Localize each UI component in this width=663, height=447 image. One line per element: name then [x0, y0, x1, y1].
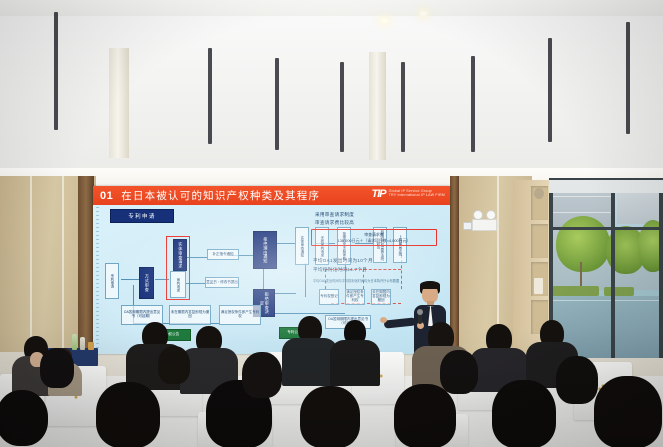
emergency-lamp-left-icon [473, 210, 483, 220]
emergency-lamp-right-icon [486, 210, 496, 220]
wood-seam-left-1 [30, 176, 32, 352]
flow-node-n7-label: 专利权登记 [320, 295, 338, 299]
flow-node-n2: 方式审查 [139, 267, 154, 299]
water-reflection-line [549, 300, 663, 301]
audience-head-18 [40, 348, 74, 388]
microphone-head-icon [417, 309, 423, 315]
logo-mark: TIP [371, 188, 385, 200]
audience-head-15 [394, 384, 456, 447]
audience-head-16 [492, 380, 556, 447]
connector-11 [305, 263, 306, 297]
connector-13 [263, 313, 345, 314]
flow-node-n4-label: 实体审查通知 [300, 236, 304, 257]
firm-logo: TIP Global IP Service Group TRY Internat… [371, 188, 445, 200]
logo-line-2: TRY International IP LAW FIRM [389, 194, 445, 198]
exterior-hedge-1 [551, 286, 599, 296]
flow-note-2: 未在期限内答复即视为撤回 [169, 305, 211, 325]
exterior-building-line-2 [551, 212, 611, 213]
audience-head-12 [96, 382, 160, 447]
flow-node-n13-label: 审判请求 [176, 278, 180, 292]
audience-head-14 [300, 386, 360, 447]
flow-note-3-label: 满足授权条件即产生专利权 [220, 311, 260, 319]
window-blind [549, 180, 663, 193]
audience-head-19 [242, 352, 282, 398]
flow-node-n5-label: 拒绝理由通知 [263, 237, 268, 263]
wall-pillar-dark-left [78, 176, 94, 356]
connector-1 [121, 279, 139, 280]
panel-heading-2: 审查请求费比较高 [315, 219, 354, 227]
window-mullion-right [659, 178, 663, 358]
water-bottle-1 [72, 334, 77, 350]
slide-banner: 01 在日本被认可的知识产权种类及其程序 TIP Global IP Servi… [93, 186, 450, 205]
emergency-light-icon [472, 219, 497, 231]
cup-1 [88, 342, 94, 350]
panel-stat-1: 平均OA1发出时间为10个月 [313, 257, 373, 265]
flow-note-3: 满足授权条件即产生专利权 [219, 305, 261, 325]
flow-node-extra-2: 未在期限内答复即视为撤回 [371, 289, 391, 305]
panel-heading-1: 采用审查请求制度 [315, 211, 354, 219]
flow-node-n3-label: 实体审查请求 [178, 242, 183, 268]
flow-node-n5: 拒绝理由通知 [253, 231, 277, 269]
presenter-hair-top [420, 281, 440, 289]
flow-node-extra-1-label: 满足授权条件即产生专利权 [346, 291, 364, 303]
slide-section-number: 01 [100, 190, 113, 202]
flow-node-n4: 实体审查通知 [295, 227, 309, 265]
exterior-hedge-2 [604, 287, 634, 296]
fee-callout-box: 审查请求费 138,000日元＋（请求项目数×4,000日元） [311, 229, 437, 246]
flow-node-n10-label: 意见书・修改书提出 [206, 281, 238, 285]
water-bottle-2 [80, 337, 85, 350]
exterior-tree-trunk [580, 262, 582, 288]
flow-note-1-label: OA答辩期限内提出意见书（可延期） [122, 311, 162, 319]
window-transom [549, 227, 663, 230]
shelf-cell-2 [531, 224, 548, 258]
connector-6 [274, 243, 296, 244]
shelf-ornament-icon [534, 188, 544, 199]
exterior-tree-1 [556, 216, 610, 272]
exterior-building-line-1 [551, 196, 611, 197]
flow-node-n1: 专利申请 [105, 263, 119, 299]
wood-seam-left-2 [62, 176, 64, 352]
audience-head-22 [158, 346, 190, 384]
fee-callout-value: 138,000日元＋（请求项目数×4,000日元） [315, 238, 433, 244]
flow-node-n3: 实体审查请求 [173, 239, 187, 271]
flow-node-n13: 审判请求 [170, 271, 186, 298]
flow-node-n10: 意见书・修改书提出 [205, 277, 239, 288]
flow-node-extra-1: 满足授权条件即产生专利权 [345, 289, 365, 305]
audience-head-11 [0, 390, 48, 446]
flow-node-n8-label: 补正指令通知 [213, 253, 234, 257]
flowchart-title-text: 专利申请 [128, 212, 156, 220]
audience-head-21 [556, 356, 598, 404]
audience-head-20 [440, 350, 478, 394]
slide-title: 在日本被认可的知识产权种类及其程序 [121, 188, 320, 203]
audience-head-17 [594, 376, 662, 447]
connector-7 [274, 293, 296, 294]
panel-stat-2: 平均权利化时间14.7个月 [313, 266, 367, 274]
audience-body-7 [330, 340, 380, 386]
window-mullion-mid [611, 178, 615, 358]
presenter-pointing-hand [380, 317, 387, 323]
slide-left-rule [96, 207, 99, 351]
shelf-book-icon [534, 278, 543, 294]
flow-node-extra-2-label: 未在期限内答复即视为撤回 [372, 291, 390, 303]
flow-node-n7: 专利权登记 [319, 289, 339, 305]
flow-node-n1-label: 专利申请 [110, 274, 114, 288]
wall-switch-icon [463, 222, 472, 230]
flow-note-2-label: 未在期限内答复即视为撤回 [170, 311, 210, 319]
flow-node-n2-label: 方式审查 [144, 274, 149, 292]
presentation-photo-scene: 01 在日本被认可的知识产权种类及其程序 TIP Global IP Servi… [0, 0, 663, 447]
flow-node-n8: 补正指令通知 [207, 249, 239, 260]
flowchart-title: 专利申请 [110, 209, 174, 223]
